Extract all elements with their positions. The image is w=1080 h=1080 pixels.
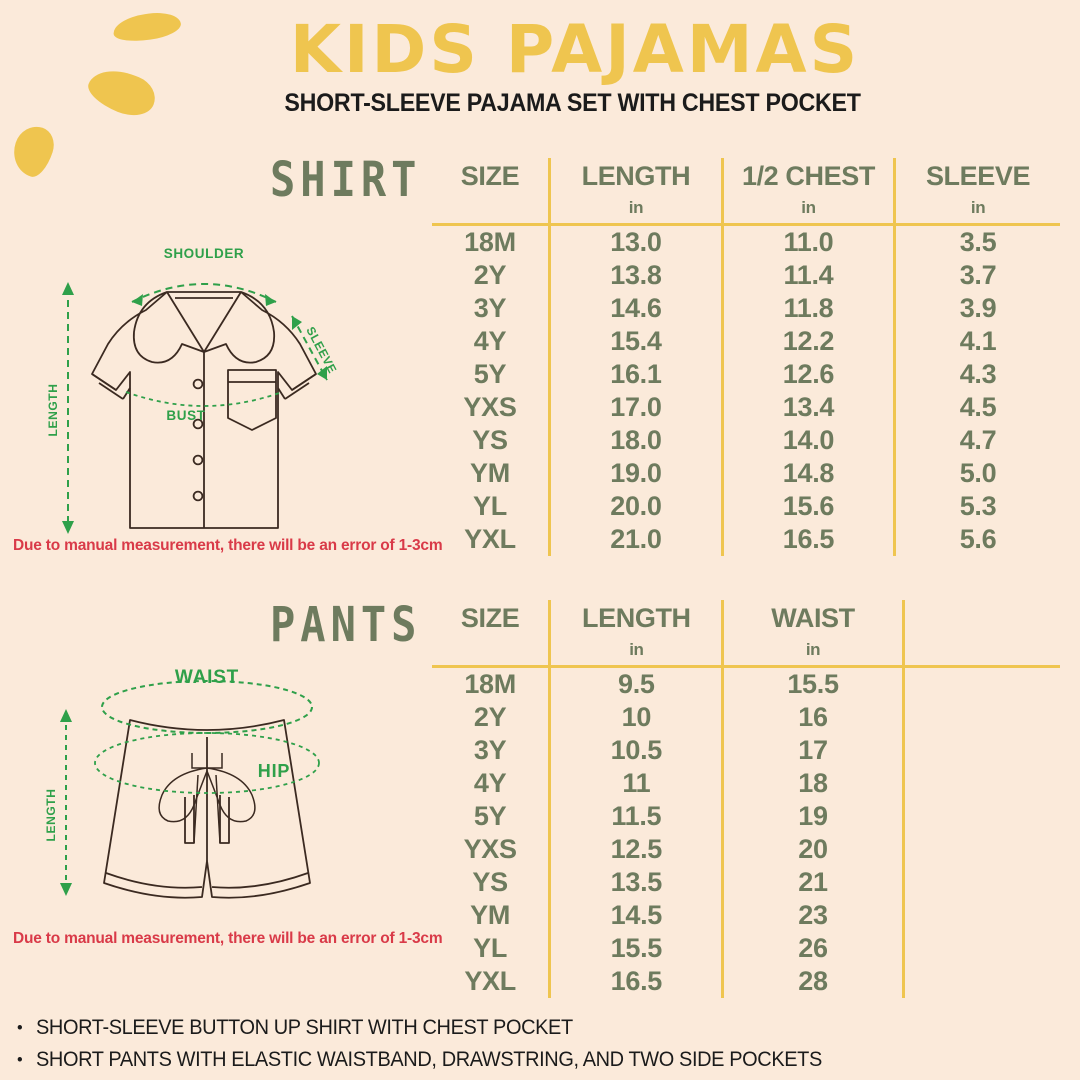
cell-length: 12.5 — [550, 833, 723, 866]
cell-length: 11 — [550, 767, 723, 800]
table-row: YXS17.013.44.5 — [432, 391, 1060, 424]
cell-length: 13.5 — [550, 866, 723, 899]
cell-half-chest: 14.0 — [722, 424, 894, 457]
cell-length: 21.0 — [549, 523, 722, 556]
page-subtitle: SHORT-SLEEVE PAJAMA SET WITH CHEST POCKE… — [38, 89, 1042, 118]
cell-waist: 26 — [723, 932, 903, 965]
cell-spacer — [903, 701, 1060, 734]
table-row: 3Y14.611.83.9 — [432, 292, 1060, 325]
table-row: YL20.015.65.3 — [432, 490, 1060, 523]
cell-length: 9.5 — [550, 667, 723, 702]
table-row: YXL21.016.55.6 — [432, 523, 1060, 556]
page-title: KIDS PAJAMAS — [0, 14, 1080, 85]
cell-spacer — [903, 932, 1060, 965]
table-row: YM14.523 — [432, 899, 1060, 932]
column-header-half-chest: 1/2 CHEST in — [722, 158, 894, 225]
column-unit: in — [724, 192, 893, 223]
cell-spacer — [903, 800, 1060, 833]
cell-sleeve: 5.6 — [895, 523, 1060, 556]
cell-sleeve: 4.5 — [895, 391, 1060, 424]
cell-length: 19.0 — [549, 457, 722, 490]
cell-size: 5Y — [432, 358, 549, 391]
cell-length: 18.0 — [549, 424, 722, 457]
cell-half-chest: 15.6 — [722, 490, 894, 523]
table-row: 3Y10.517 — [432, 734, 1060, 767]
cell-size: YS — [432, 866, 550, 899]
cell-spacer — [903, 667, 1060, 702]
cell-waist: 18 — [723, 767, 903, 800]
cell-length: 11.5 — [550, 800, 723, 833]
table-row: YXS12.520 — [432, 833, 1060, 866]
cell-length: 16.5 — [550, 965, 723, 998]
svg-text:HIP: HIP — [258, 761, 290, 781]
column-label: SIZE — [461, 161, 519, 191]
cell-half-chest: 12.2 — [722, 325, 894, 358]
table-row: YS13.521 — [432, 866, 1060, 899]
cell-sleeve: 5.3 — [895, 490, 1060, 523]
column-unit: in — [551, 634, 721, 665]
cell-spacer — [903, 833, 1060, 866]
cell-size: 2Y — [432, 259, 549, 292]
feature-item: SHORT-SLEEVE BUTTON UP SHIRT WITH CHEST … — [36, 1012, 822, 1044]
column-header-waist: WAIST in — [723, 600, 903, 667]
svg-text:BUST: BUST — [166, 408, 205, 423]
cell-size: YXL — [432, 523, 549, 556]
cell-half-chest: 16.5 — [722, 523, 894, 556]
cell-length: 15.4 — [549, 325, 722, 358]
cell-size: 18M — [432, 667, 550, 702]
header: KIDS PAJAMAS SHORT-SLEEVE PAJAMA SET WIT… — [0, 0, 1080, 118]
column-header-size: SIZE — [432, 158, 549, 225]
table-row: 5Y11.519 — [432, 800, 1060, 833]
cell-half-chest: 12.6 — [722, 358, 894, 391]
cell-half-chest: 11.0 — [722, 225, 894, 260]
section-heading-pants: PANTS — [270, 596, 421, 652]
column-header-size: SIZE — [432, 600, 550, 667]
cell-sleeve: 3.9 — [895, 292, 1060, 325]
cell-size: YXS — [432, 391, 549, 424]
table-header-row: SIZE LENGTH in 1/2 CHEST in SLEEVE in — [432, 158, 1060, 225]
cell-sleeve: 3.7 — [895, 259, 1060, 292]
cell-waist: 19 — [723, 800, 903, 833]
decorative-blob-icon — [7, 121, 59, 180]
feature-item: SHORT PANTS WITH ELASTIC WAISTBAND, DRAW… — [36, 1044, 822, 1076]
table-row: 4Y1118 — [432, 767, 1060, 800]
cell-size: YXL — [432, 965, 550, 998]
cell-length: 16.1 — [549, 358, 722, 391]
table-row: 4Y15.412.24.1 — [432, 325, 1060, 358]
column-header-length: LENGTH in — [550, 600, 723, 667]
column-header-sleeve: SLEEVE in — [895, 158, 1060, 225]
table-row: 2Y1016 — [432, 701, 1060, 734]
svg-text:WAIST: WAIST — [175, 667, 239, 688]
pants-diagram: WAIST HIP LENGTH — [22, 665, 392, 935]
cell-sleeve: 4.7 — [895, 424, 1060, 457]
pants-size-table: SIZE LENGTH in WAIST in 18M9.515.52Y1016… — [432, 600, 1060, 998]
table-row: 5Y16.112.64.3 — [432, 358, 1060, 391]
feature-list: SHORT-SLEEVE BUTTON UP SHIRT WITH CHEST … — [14, 1012, 863, 1076]
cell-size: 5Y — [432, 800, 550, 833]
cell-size: 4Y — [432, 325, 549, 358]
cell-waist: 16 — [723, 701, 903, 734]
cell-waist: 20 — [723, 833, 903, 866]
cell-size: YXS — [432, 833, 550, 866]
cell-length: 13.0 — [549, 225, 722, 260]
cell-size: YS — [432, 424, 549, 457]
shirt-diagram: SHOULDER SLEEVE LENGTH BUST — [30, 240, 400, 540]
cell-size: 4Y — [432, 767, 550, 800]
cell-waist: 15.5 — [723, 667, 903, 702]
table-row: YM19.014.85.0 — [432, 457, 1060, 490]
cell-size: 3Y — [432, 292, 549, 325]
table-header-row: SIZE LENGTH in WAIST in — [432, 600, 1060, 667]
cell-length: 17.0 — [549, 391, 722, 424]
cell-half-chest: 14.8 — [722, 457, 894, 490]
table-row: 2Y13.811.43.7 — [432, 259, 1060, 292]
column-label: LENGTH — [582, 603, 691, 633]
cell-half-chest: 11.8 — [722, 292, 894, 325]
pants-measurement-disclaimer: Due to manual measurement, there will be… — [13, 930, 442, 948]
cell-size: YM — [432, 899, 550, 932]
cell-length: 10.5 — [550, 734, 723, 767]
svg-text:LENGTH: LENGTH — [46, 384, 60, 437]
table-row: YL15.526 — [432, 932, 1060, 965]
cell-length: 20.0 — [549, 490, 722, 523]
cell-waist: 17 — [723, 734, 903, 767]
column-label: SIZE — [461, 603, 519, 633]
cell-size: YL — [432, 490, 549, 523]
cell-spacer — [903, 965, 1060, 998]
cell-spacer — [903, 866, 1060, 899]
cell-size: YL — [432, 932, 550, 965]
cell-half-chest: 11.4 — [722, 259, 894, 292]
cell-length: 10 — [550, 701, 723, 734]
svg-text:SLEEVE: SLEEVE — [303, 324, 339, 376]
column-label: WAIST — [771, 603, 855, 633]
cell-size: 3Y — [432, 734, 550, 767]
cell-size: 2Y — [432, 701, 550, 734]
column-label: LENGTH — [582, 161, 691, 191]
cell-size: 18M — [432, 225, 549, 260]
column-header-length: LENGTH in — [549, 158, 722, 225]
cell-length: 15.5 — [550, 932, 723, 965]
cell-waist: 21 — [723, 866, 903, 899]
table-row: 18M9.515.5 — [432, 667, 1060, 702]
cell-sleeve: 4.1 — [895, 325, 1060, 358]
cell-sleeve: 5.0 — [895, 457, 1060, 490]
column-label: 1/2 CHEST — [742, 161, 875, 191]
cell-spacer — [903, 767, 1060, 800]
table-row: YS18.014.04.7 — [432, 424, 1060, 457]
cell-length: 14.5 — [550, 899, 723, 932]
column-unit: in — [724, 634, 901, 665]
column-spacer — [903, 600, 1060, 667]
svg-text:LENGTH: LENGTH — [44, 789, 58, 842]
shirt-measurement-disclaimer: Due to manual measurement, there will be… — [13, 537, 442, 555]
shirt-size-table: SIZE LENGTH in 1/2 CHEST in SLEEVE in 18… — [432, 158, 1060, 556]
cell-waist: 23 — [723, 899, 903, 932]
cell-sleeve: 3.5 — [895, 225, 1060, 260]
cell-length: 14.6 — [549, 292, 722, 325]
cell-half-chest: 13.4 — [722, 391, 894, 424]
cell-waist: 28 — [723, 965, 903, 998]
cell-size: YM — [432, 457, 549, 490]
cell-spacer — [903, 734, 1060, 767]
cell-spacer — [903, 899, 1060, 932]
section-heading-shirt: SHIRT — [270, 151, 421, 207]
table-row: YXL16.528 — [432, 965, 1060, 998]
cell-sleeve: 4.3 — [895, 358, 1060, 391]
cell-length: 13.8 — [549, 259, 722, 292]
svg-text:SHOULDER: SHOULDER — [164, 246, 245, 261]
table-row: 18M13.011.03.5 — [432, 225, 1060, 260]
column-unit: in — [551, 192, 721, 223]
column-label: SLEEVE — [926, 161, 1030, 191]
column-unit: in — [896, 192, 1060, 223]
